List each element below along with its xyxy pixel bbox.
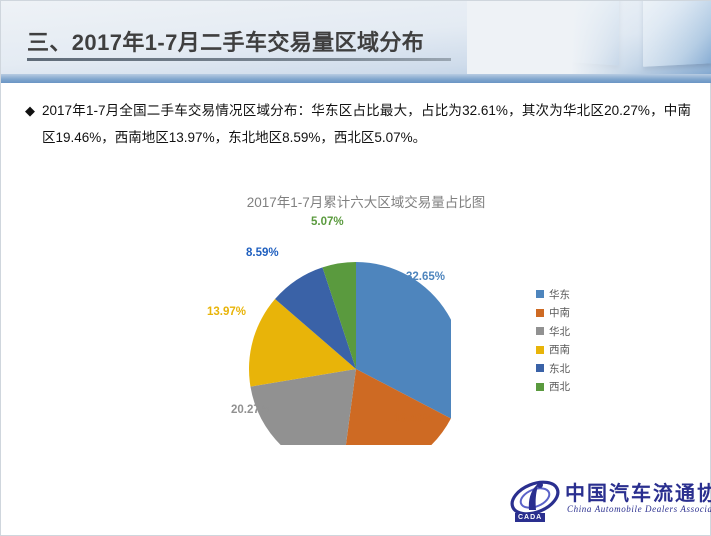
title-underline-rule: [27, 58, 451, 61]
legend-item-华东[interactable]: 华东: [536, 285, 570, 304]
legend-item-label: 华北: [549, 324, 570, 339]
legend-item-label: 东北: [549, 361, 570, 376]
pie-data-label-xinan: 13.97%: [207, 306, 246, 318]
pie-data-label-dongbei: 8.59%: [246, 247, 279, 259]
legend-swatch-icon: [536, 383, 544, 391]
pie-data-label-huadong: 32.65%: [406, 271, 445, 283]
legend-swatch-icon: [536, 309, 544, 317]
legend-swatch-icon: [536, 346, 544, 354]
header-image-fade: [467, 1, 711, 83]
header-bottom-stripe: [1, 74, 711, 83]
legend-swatch-icon: [536, 364, 544, 372]
legend-item-label: 中南: [549, 305, 570, 320]
pie-chart: 2017年1-7月累计六大区域交易量占比图 32.65% 19.46% 20.2…: [151, 187, 621, 452]
pie-data-label-xibei: 5.07%: [311, 216, 344, 228]
organization-logo: CADA 中国汽车流通协会 China Automobile Dealers A…: [509, 473, 705, 529]
legend-swatch-icon: [536, 327, 544, 335]
legend-item-label: 西南: [549, 342, 570, 357]
logo-chinese-name: 中国汽车流通协会: [565, 477, 711, 506]
logo-english-name: China Automobile Dealers Association: [567, 504, 711, 514]
legend-item-label: 西北: [549, 379, 570, 394]
legend-item-东北[interactable]: 东北: [536, 359, 570, 378]
pie-data-label-zhongnan: 19.46%: [394, 413, 433, 425]
header-decorative-image: [467, 1, 711, 83]
legend-swatch-icon: [536, 290, 544, 298]
legend-item-中南[interactable]: 中南: [536, 304, 570, 323]
chart-legend: 华东中南华北西南东北西北: [536, 285, 570, 396]
diamond-bullet-icon: ◆: [25, 97, 35, 124]
bullet-paragraph: ◆ 2017年1-7月全国二手车交易情况区域分布：华东区占比最大，占比为32.6…: [25, 97, 691, 151]
legend-item-西南[interactable]: 西南: [536, 341, 570, 360]
legend-item-label: 华东: [549, 287, 570, 302]
legend-item-华北[interactable]: 华北: [536, 322, 570, 341]
bullet-paragraph-text: 2017年1-7月全国二手车交易情况区域分布：华东区占比最大，占比为32.61%…: [42, 97, 691, 151]
slide-canvas: 三、2017年1-7月二手车交易量区域分布 ◆ 2017年1-7月全国二手车交易…: [0, 0, 711, 536]
logo-abbreviation: CADA: [515, 513, 545, 522]
page-title: 三、2017年1-7月二手车交易量区域分布: [27, 25, 487, 57]
pie-chart-graphic: [151, 205, 451, 445]
legend-item-西北[interactable]: 西北: [536, 378, 570, 397]
pie-data-label-huabei: 20.27%: [231, 404, 270, 416]
